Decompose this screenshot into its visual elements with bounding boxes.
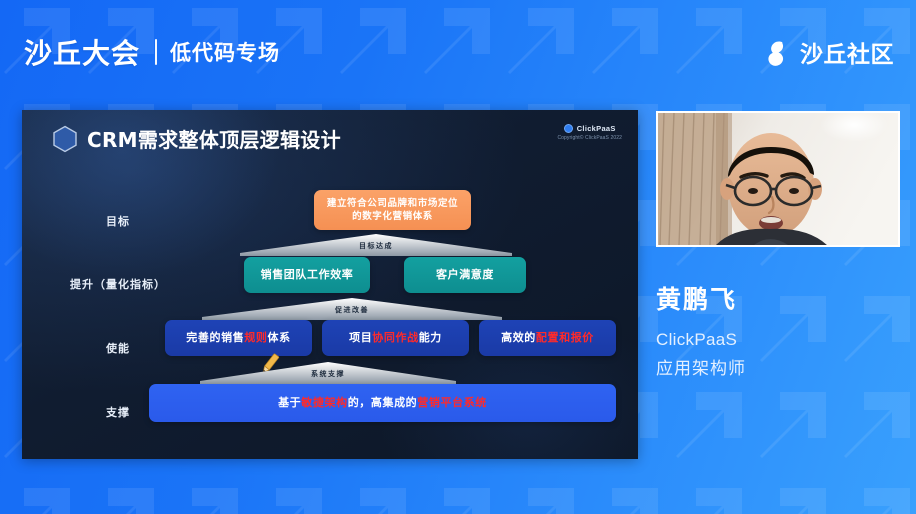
support-box-highlight-1: 敏捷架构 xyxy=(301,396,347,409)
enable-box-2-pre: 项目 xyxy=(349,331,372,344)
enable-box-1-post: 体系 xyxy=(268,331,291,344)
row-label-support: 支撑 xyxy=(78,404,158,420)
metric-box-1[interactable]: 销售团队工作效率 xyxy=(244,257,370,293)
arrow-label-support: 系统支撑 xyxy=(200,369,456,379)
page-header: 沙丘大会 低代码专场 沙丘社区 xyxy=(0,0,916,104)
enable-box-1-highlight: 规则 xyxy=(244,331,267,344)
support-box-pre: 基于 xyxy=(278,396,301,409)
enable-box-2-post: 能力 xyxy=(419,331,442,344)
arrow-band-improve: 促进改善 xyxy=(202,298,502,320)
speaker-webcam-image xyxy=(658,113,898,245)
speaker-video[interactable] xyxy=(656,111,900,247)
support-box-highlight-2: 营销平台系统 xyxy=(417,396,487,409)
community-logo: 沙丘社区 xyxy=(764,35,894,69)
slide-watermark: ClickPaaS Copyright© ClickPaaS 2022 xyxy=(557,124,622,141)
clickpaas-name: ClickPaaS xyxy=(577,124,616,133)
enable-box-3[interactable]: 高效的配置和报价 xyxy=(479,320,616,356)
clickpaas-logo-icon xyxy=(564,124,573,133)
speaker-role: 应用架构师 xyxy=(656,354,746,379)
enable-box-1-pre: 完善的销售 xyxy=(186,331,244,344)
speaker-name: 黄鹏飞 xyxy=(656,280,746,316)
hexagon-icon xyxy=(52,125,78,153)
event-title: 沙丘大会 xyxy=(24,32,140,72)
speaker-info: 黄鹏飞 ClickPaaS 应用架构师 xyxy=(656,280,746,379)
support-box[interactable]: 基于敏捷架构的，高集成的营销平台系统 xyxy=(149,384,616,422)
row-label-enable: 使能 xyxy=(78,340,158,356)
slide-header: CRM需求整体顶层逻辑设计 xyxy=(52,124,341,153)
goal-box-line1: 建立符合公司品牌和市场定位 xyxy=(327,197,458,210)
arrow-band-support: 系统支撑 xyxy=(200,362,456,384)
support-box-mid: 的，高集成的 xyxy=(348,396,418,409)
presentation-slide[interactable]: CRM需求整体顶层逻辑设计 ClickPaaS Copyright© Click… xyxy=(22,110,638,459)
slide-title: CRM需求整体顶层逻辑设计 xyxy=(87,124,341,153)
event-subtitle: 低代码专场 xyxy=(170,37,280,67)
arrow-label-goal: 目标达成 xyxy=(240,241,512,251)
brand-divider xyxy=(155,39,157,65)
arrow-band-goal: 目标达成 xyxy=(240,234,512,256)
row-label-goal: 目标 xyxy=(78,213,158,229)
speaker-org: ClickPaaS xyxy=(656,330,746,350)
goal-box[interactable]: 建立符合公司品牌和市场定位 的数字化营销体系 xyxy=(314,190,471,230)
enable-box-3-pre: 高效的 xyxy=(501,331,536,344)
enable-box-2[interactable]: 项目协同作战能力 xyxy=(322,320,469,356)
copyright-text: Copyright© ClickPaaS 2022 xyxy=(557,135,622,141)
event-brand: 沙丘大会 低代码专场 xyxy=(24,32,280,72)
enable-box-3-highlight: 配置和报价 xyxy=(536,331,594,344)
enable-box-1[interactable]: 完善的销售规则体系 xyxy=(165,320,312,356)
goal-box-line2: 的数字化营销体系 xyxy=(327,210,458,223)
s-mark-icon xyxy=(764,39,791,66)
arrow-label-improve: 促进改善 xyxy=(202,305,502,315)
community-logo-text: 沙丘社区 xyxy=(800,35,894,69)
row-label-improve: 提升（量化指标） xyxy=(50,276,186,292)
metric-box-2[interactable]: 客户满意度 xyxy=(404,257,526,293)
enable-box-2-highlight: 协同作战 xyxy=(372,331,418,344)
